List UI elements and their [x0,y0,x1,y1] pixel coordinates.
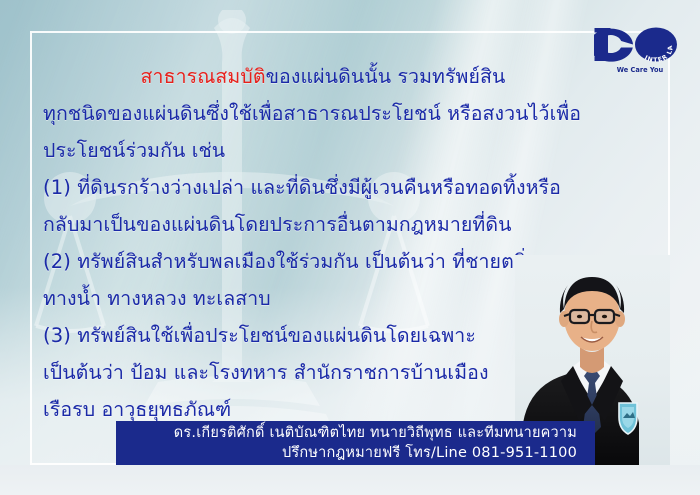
poster-root: INTER LAW We Care You สาธารณสมบัติของแผ่… [0,0,700,495]
footer-line-2: ปรึกษากฎหมายฟรี โทร/Line 081-951-1100 [282,443,577,463]
footer-line-1: ดร.เกียรติศักดิ์ เนติบัณฑิตไทย ทนายวิถีพ… [174,423,577,443]
shield-emblem-icon [619,403,637,434]
highlight-term: สาธารณสมบัติ [141,65,266,88]
bottom-margin-strip [0,465,700,495]
ico-inter-law-logo: INTER LAW We Care You [594,22,686,84]
body-line-5: กลับมาเป็นของแผ่นดินโดยประการอื่นตามกฎหม… [43,206,603,243]
body-line-3: ประโยชน์ร่วมกัน เช่น [43,132,603,169]
body-line-1-rest: ของแผ่นดินนั้น รวมทรัพย์สิน [266,65,506,88]
footer-contact-bar: ดร.เกียรติศักดิ์ เนติบัณฑิตไทย ทนายวิถีพ… [116,421,595,465]
body-line-1: สาธารณสมบัติของแผ่นดินนั้น รวมทรัพย์สิน [43,58,603,95]
body-line-4: (1) ที่ดินรกร้างว่างเปล่า และที่ดินซึ่งม… [43,169,603,206]
svg-text:We Care You: We Care You [617,66,664,74]
body-line-2: ทุกชนิดของแผ่นดินซึ่งใช้เพื่อสาธารณประโย… [43,95,603,132]
